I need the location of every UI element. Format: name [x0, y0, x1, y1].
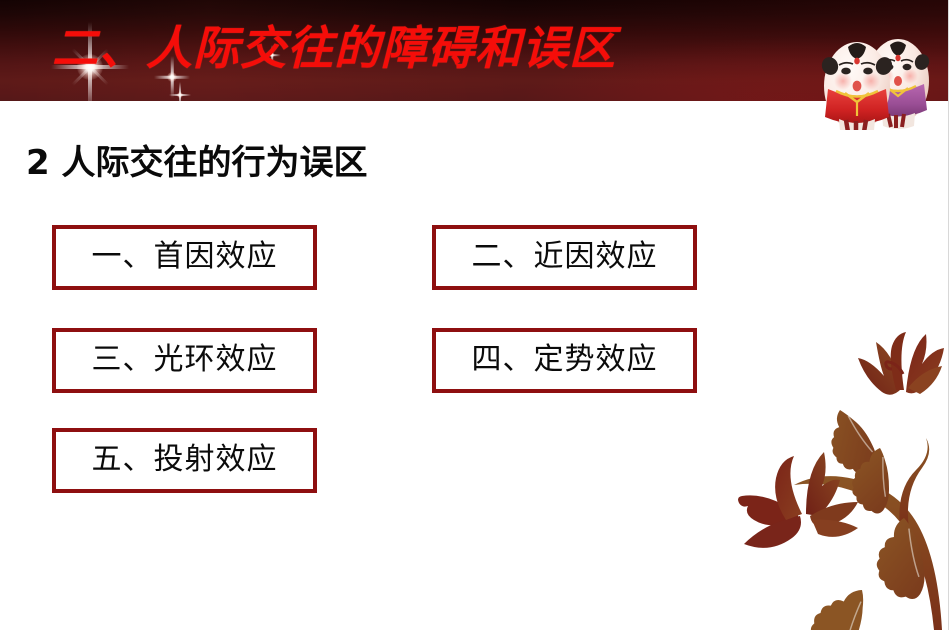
- slide-header-banner: 二、人际交往的障碍和误区: [0, 0, 949, 101]
- sparkle-star-icon: [167, 82, 193, 101]
- effect-box-label: 一、首因效应: [92, 242, 278, 272]
- presentation-slide: 二、人际交往的障碍和误区: [0, 0, 949, 630]
- effect-box-label: 三、光环效应: [92, 345, 278, 375]
- effect-box-recency[interactable]: 二、近因效应: [432, 225, 697, 290]
- chinese-clay-dolls-image: [810, 18, 936, 130]
- effect-box-halo[interactable]: 三、光环效应: [52, 328, 317, 393]
- slide-banner-title: 二、人际交往的障碍和误区: [52, 18, 616, 78]
- floral-silhouette-ornament: [688, 300, 948, 630]
- effect-box-primacy[interactable]: 一、首因效应: [52, 225, 317, 290]
- effect-box-label: 四、定势效应: [472, 345, 658, 375]
- effect-box-projection[interactable]: 五、投射效应: [52, 428, 317, 493]
- effect-box-label: 五、投射效应: [92, 445, 278, 475]
- effect-box-label: 二、近因效应: [472, 242, 658, 272]
- effect-box-stereotype[interactable]: 四、定势效应: [432, 328, 697, 393]
- section-subtitle: 2 人际交往的行为误区: [26, 140, 368, 186]
